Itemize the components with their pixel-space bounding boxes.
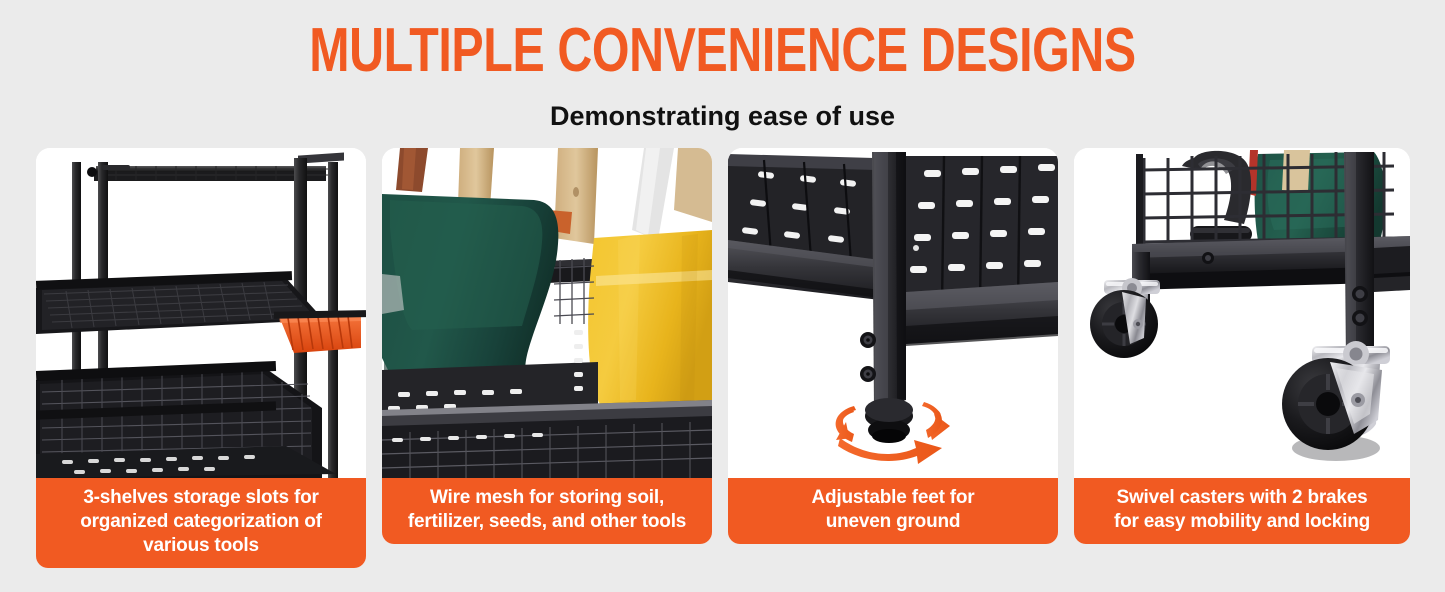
swivel-caster-illustration <box>1074 148 1410 478</box>
caption-line: Adjustable feet for <box>734 486 1052 510</box>
feature-card-adjustable-feet[interactable]: Adjustable feet for uneven ground <box>728 148 1058 544</box>
caption-line: for easy mobility and locking <box>1080 510 1404 534</box>
caption-adjustable-feet: Adjustable feet for uneven ground <box>728 478 1058 544</box>
infographic-root: MULTIPLE CONVENIENCE DESIGNS Demonstrati… <box>0 0 1445 592</box>
page-subtitle: Demonstrating ease of use <box>0 100 1445 132</box>
shelf-rack-illustration <box>36 148 366 478</box>
caption-line: organized categorization of <box>42 510 360 534</box>
corner-post-right <box>1344 152 1374 364</box>
feature-card-three-shelf-storage[interactable]: 3-shelves storage slots for organized ca… <box>36 148 366 568</box>
caption-three-shelf-storage: 3-shelves storage slots for organized ca… <box>36 478 366 568</box>
photo-three-shelf-storage <box>36 148 366 478</box>
caption-line: various tools <box>42 534 360 558</box>
bracket-knob <box>87 167 97 177</box>
caption-wire-mesh-storage: Wire mesh for storing soil, fertilizer, … <box>382 478 712 544</box>
mesh-storage-illustration <box>382 148 712 478</box>
right-lower-rail <box>906 282 1058 346</box>
right-shelf-slats <box>1374 246 1410 292</box>
feature-card-wire-mesh-storage[interactable]: Wire mesh for storing soil, fertilizer, … <box>382 148 712 544</box>
adjustable-foot-illustration <box>728 148 1058 478</box>
caption-line: uneven ground <box>734 510 1052 534</box>
caption-line: Wire mesh for storing soil, <box>388 486 706 510</box>
photo-wire-mesh-storage <box>382 148 712 478</box>
corner-post <box>872 152 906 410</box>
feature-card-swivel-casters[interactable]: Swivel casters with 2 brakes for easy mo… <box>1074 148 1410 544</box>
photo-adjustable-feet <box>728 148 1058 478</box>
page-title: MULTIPLE CONVENIENCE DESIGNS <box>159 18 1286 84</box>
caption-swivel-casters: Swivel casters with 2 brakes for easy mo… <box>1074 478 1410 544</box>
adjustable-foot <box>865 398 913 443</box>
bottom-mesh-basket <box>382 416 712 478</box>
caption-line: 3-shelves storage slots for <box>42 486 360 510</box>
photo-swivel-casters <box>1074 148 1410 478</box>
caption-line: fertilizer, seeds, and other tools <box>388 510 706 534</box>
caption-line: Swivel casters with 2 brakes <box>1080 486 1404 510</box>
